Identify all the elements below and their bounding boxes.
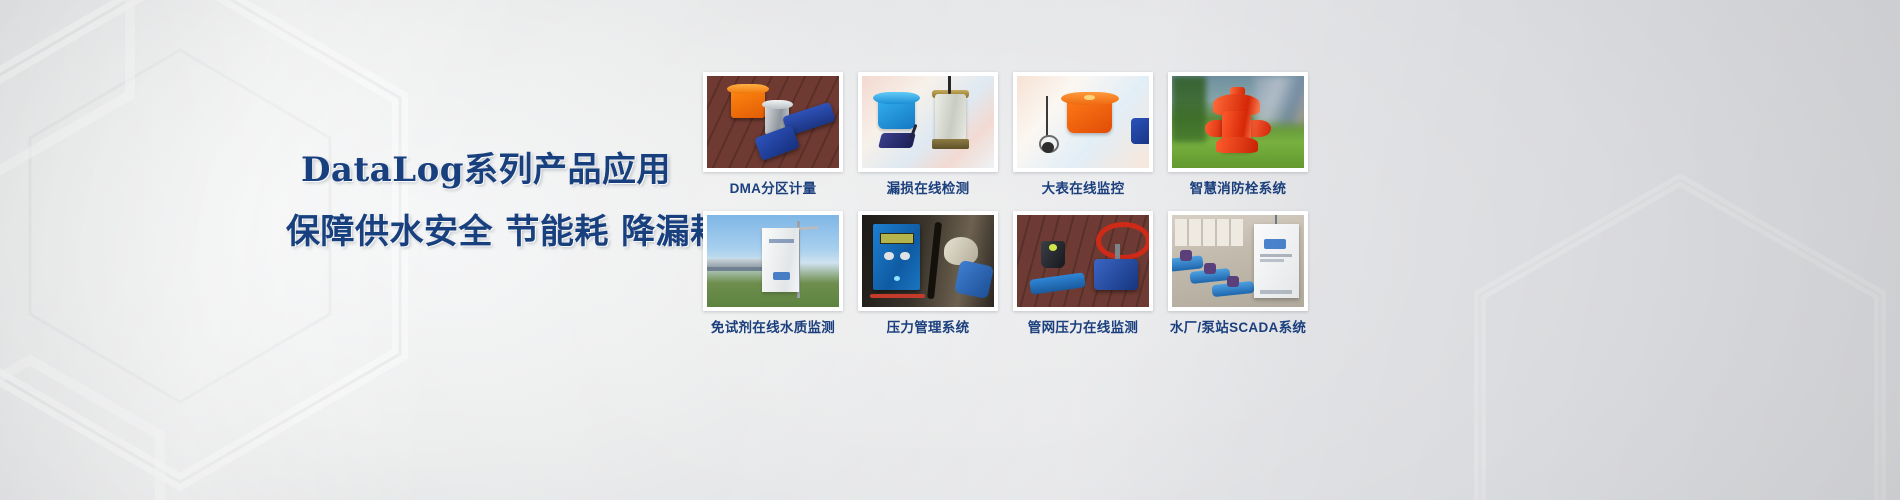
product-label: 水厂/泵站SCADA系统	[1168, 320, 1308, 336]
dma-metering-chamber-photo	[707, 76, 839, 168]
product-thumbnail-frame	[1168, 211, 1308, 311]
product-card-fire-hydrant[interactable]: 智慧消防栓系统	[1168, 72, 1308, 197]
product-card-pipeline-pressure[interactable]: 管网压力在线监测	[1013, 211, 1153, 336]
product-thumbnail-frame	[1013, 211, 1153, 311]
product-label: 管网压力在线监测	[1013, 320, 1153, 336]
headline-line-2: 保障供水安全 节能耗 降漏耗	[286, 210, 686, 254]
headline-block: DataLog系列产品应用 保障供水安全 节能耗 降漏耗	[286, 148, 686, 254]
product-thumbnail-frame	[858, 211, 998, 311]
product-label: 免试剂在线水质监测	[703, 320, 843, 336]
product-label: DMA分区计量	[703, 181, 843, 197]
product-card-leak-detection[interactable]: 漏损在线检测	[858, 72, 998, 197]
product-thumbnail-frame	[1168, 72, 1308, 172]
hexagon-watermark-right	[1400, 150, 1900, 500]
product-label: 大表在线监控	[1013, 181, 1153, 197]
product-thumbnail-frame	[858, 72, 998, 172]
product-label: 智慧消防栓系统	[1168, 181, 1308, 197]
product-card-dma-metering[interactable]: DMA分区计量	[703, 72, 843, 197]
product-grid: DMA分区计量 漏损在线检测	[703, 72, 1308, 336]
product-label: 压力管理系统	[858, 320, 998, 336]
pump-station-scada-photo	[1172, 215, 1304, 307]
leak-detection-logger-photo	[862, 76, 994, 168]
product-card-scada[interactable]: 水厂/泵站SCADA系统	[1168, 211, 1308, 336]
product-thumbnail-frame	[1013, 72, 1153, 172]
large-meter-monitoring-photo	[1017, 76, 1149, 168]
product-card-pressure-management[interactable]: 压力管理系统	[858, 211, 998, 336]
headline-line-1: DataLog系列产品应用	[286, 148, 686, 192]
product-label: 漏损在线检测	[858, 181, 998, 197]
pipeline-pressure-valve-photo	[1017, 215, 1149, 307]
product-card-water-quality[interactable]: 免试剂在线水质监测	[703, 211, 843, 336]
product-thumbnail-frame	[703, 72, 843, 172]
product-thumbnail-frame	[703, 211, 843, 311]
product-card-large-meter[interactable]: 大表在线监控	[1013, 72, 1153, 197]
pressure-management-box-photo	[862, 215, 994, 307]
promo-banner: DataLog系列产品应用 保障供水安全 节能耗 降漏耗 DMA分区计量	[0, 0, 1900, 500]
water-quality-station-photo	[707, 215, 839, 307]
smart-fire-hydrant-photo	[1172, 76, 1304, 168]
